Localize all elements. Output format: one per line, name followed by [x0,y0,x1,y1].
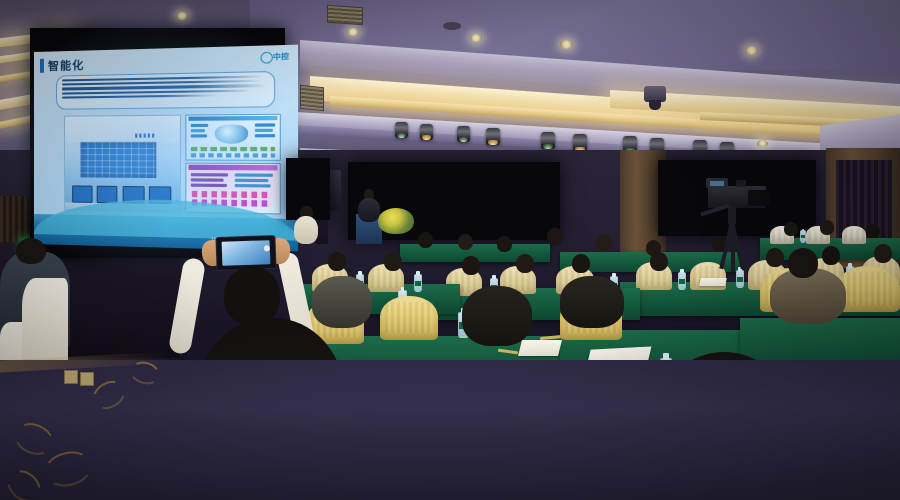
stage-light-2 [420,124,433,140]
ceiling-speaker-cone [649,100,661,110]
dash-indicator-row-1 [192,191,272,198]
wall-switch-1[interactable] [64,370,78,384]
dash-item-2 [191,178,224,181]
downlight-1 [347,28,359,36]
smartphone-screen [221,240,271,266]
tripod-leg-3 [731,222,735,272]
main-slide-logo: 中控 [273,51,289,62]
bottle-mid-2 [736,270,744,288]
dash-status-row-2 [191,153,275,157]
dash-chip-3 [191,134,207,137]
downlight-6 [757,140,768,147]
main-slide-textbox [56,71,275,110]
camera-viewfinder-screen [710,181,724,186]
attendee-head-mid-10 [788,248,818,278]
camera-top-handle [736,180,746,187]
attendee-head-mid-3 [822,246,840,265]
attendee-head-mid-2 [766,248,784,267]
attendee-head-far-2 [820,220,834,235]
attendee-head-mid-5 [462,256,480,275]
chair-front-2 [380,296,438,340]
bottle-mid-7 [414,274,422,292]
attendee-head-mid-1 [650,252,668,271]
control-room-video-wall [81,142,157,178]
main-slide: 智能化 中控 [34,45,298,252]
speaker-body [358,198,380,222]
attendee-body-mid-5 [462,286,532,346]
slide-text-line-4 [62,89,253,94]
notepad-front-2 [518,340,562,356]
attendee-head-far-4 [547,228,563,245]
conference-hall-photo: 智能化 中控 [0,0,900,500]
attendee-head-mid-9 [384,252,402,271]
ballroom-carpet [0,360,900,500]
ceiling-vent-1 [327,5,363,26]
attendee-head-mid-4 [874,244,892,263]
dashboard-lower-header [189,165,278,171]
notepad-mid-1 [699,278,727,286]
wall-switch-2[interactable] [80,372,94,386]
dashboard-3d-equipment-icon [215,125,248,144]
chair-back-3 [842,226,866,244]
photographer-head [224,266,280,324]
downlight-5 [176,12,188,20]
attendee-head-far-1 [784,222,798,236]
ceiling-smoke-detector [443,22,461,30]
downlight-4 [745,46,758,55]
attendee-head-mid-8 [328,252,346,271]
dash-chip-1 [191,124,208,127]
stage-light-4 [486,128,500,145]
dash-item-5 [235,179,269,182]
control-room-photo [64,115,181,213]
attendee-head-far-3 [866,224,880,238]
stage-light-5 [541,132,555,149]
dash-item-6 [235,184,271,187]
dash-chip-5 [255,129,273,132]
bottle-mid-1 [678,272,686,290]
dashboard-panel-upper [185,114,281,161]
dash-item-4 [235,173,273,176]
attendee-head-far-10 [458,234,473,250]
dash-chip-2 [191,129,205,132]
main-slide-title: 智能化 [48,57,84,74]
control-room-light-strip [135,133,156,138]
dash-status-row-1 [191,147,275,151]
downlight-3 [560,40,573,49]
attendee-head-mid-7 [572,254,590,273]
attendee-head-far-5 [596,234,612,251]
downlight-2 [470,34,482,42]
bottle-far-1 [800,230,806,243]
attendee-head-mid-6 [516,254,534,273]
broadcast-camera-lens [748,190,770,206]
dash-chip-4 [255,123,275,126]
floral-arrangement [378,208,414,234]
attendee-head-far-9 [418,232,433,248]
stage-light-1 [395,122,408,138]
ceiling-vent-2 [300,85,324,112]
main-slide-logo-icon [260,52,272,64]
dash-item-3 [191,184,227,187]
dashboard-header-bar [189,116,278,121]
stage-light-3 [457,126,470,142]
dash-chip-6 [255,134,275,137]
slide-text-line-5 [62,94,217,99]
attendee-body-far-8 [294,216,318,244]
dash-item-1 [191,173,228,176]
attendee-body-mid-8 [312,276,372,328]
control-room-monitor-1 [72,185,93,202]
attendee-head-far-11 [497,236,512,252]
control-room-ceiling [65,116,180,143]
attendee-left-standing-head [16,238,46,264]
attendee-body-mid-7 [560,276,624,328]
